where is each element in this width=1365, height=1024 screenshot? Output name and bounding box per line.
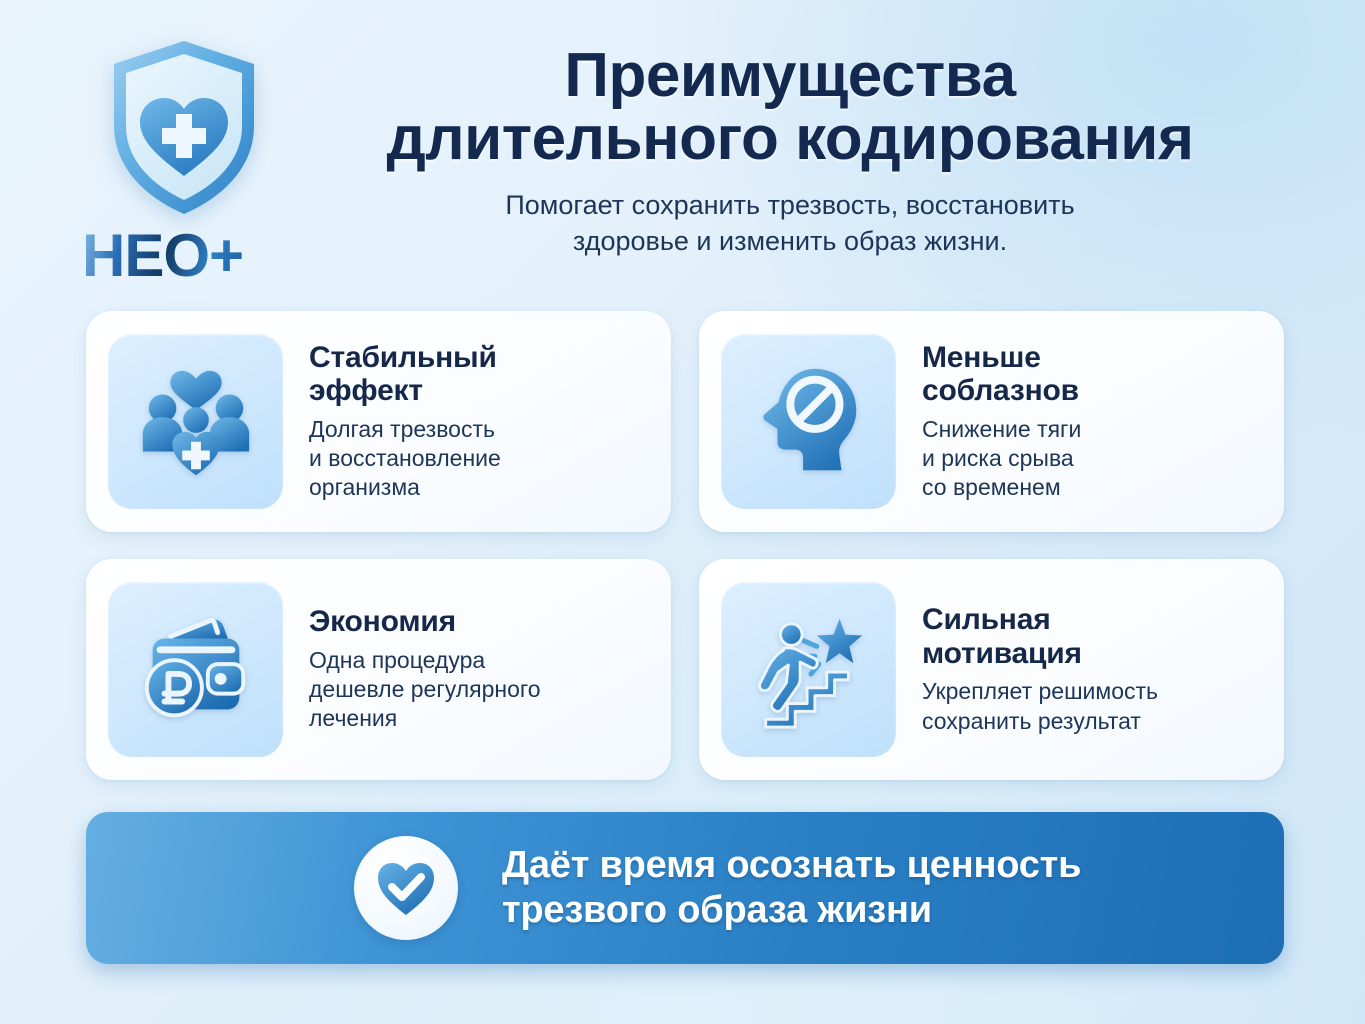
benefit-card-savings[interactable]: Экономия Одна процедура дешевле регулярн… (86, 559, 671, 780)
shield-heart-plus-icon (106, 38, 262, 218)
benefit-card-title-line-1: Экономия (309, 605, 456, 638)
benefit-card-stable-effect[interactable]: Стабильный эффект Долгая трезвость и вос… (86, 311, 671, 532)
benefit-card-title: Меньше соблазнов (922, 341, 1081, 408)
brand-wordmark: НЕО+ (82, 224, 302, 288)
bottom-banner: Даёт время осознать ценность трезвого об… (86, 812, 1284, 964)
page-title-line-1: Преимущества (564, 41, 1015, 110)
benefit-card-desc-line-1: Укрепляет решимость (922, 678, 1158, 704)
page-subtitle: Помогает сохранить трезвость, восстанови… (300, 188, 1280, 258)
benefit-card-title-line-2: соблазнов (922, 374, 1079, 407)
wallet-ruble-icon (108, 582, 283, 757)
page-title-line-2: длительного кодирования (300, 107, 1280, 170)
heart-check-icon (354, 836, 458, 940)
benefit-card-desc-line-3: организма (309, 474, 420, 500)
benefit-card-desc-line-3: со временем (922, 474, 1061, 500)
benefit-card-title: Экономия (309, 605, 541, 639)
family-heart-plus-icon (108, 334, 283, 509)
benefit-card-title: Стабильный эффект (309, 341, 501, 408)
benefit-card-description: Одна процедура дешевле регулярного лечен… (309, 646, 541, 734)
benefit-cards-grid: Стабильный эффект Долгая трезвость и вос… (86, 311, 1284, 780)
benefit-card-text: Сильная мотивация Укрепляет решимость со… (896, 603, 1162, 736)
benefit-card-desc-line-1: Снижение тяги (922, 416, 1081, 442)
benefit-card-desc-line-2: сохранить результат (922, 708, 1141, 734)
benefit-card-text: Меньше соблазнов Снижение тяги и риска с… (896, 341, 1085, 503)
benefit-card-title-line-2: эффект (309, 374, 423, 407)
brand-logo: НЕО+ (82, 38, 302, 288)
benefit-card-description: Снижение тяги и риска срыва со временем (922, 415, 1081, 503)
title-block: Преимущества длительного кодирования Пом… (300, 44, 1280, 259)
infographic-poster: НЕО+ Преимущества длительного кодировани… (0, 0, 1365, 1024)
stairs-star-runner-icon (721, 582, 896, 757)
benefit-card-desc-line-2: дешевле регулярного (309, 676, 541, 702)
banner-message-line-1: Даёт время осознать ценность (502, 843, 1081, 888)
benefit-card-title-line-1: Меньше (922, 341, 1041, 374)
benefit-card-desc-line-2: и риска срыва (922, 445, 1074, 471)
benefit-card-desc-line-3: лечения (309, 705, 397, 731)
benefit-card-title: Сильная мотивация (922, 603, 1158, 670)
benefit-card-text: Экономия Одна процедура дешевле регулярн… (283, 605, 545, 733)
benefit-card-description: Укрепляет решимость сохранить результат (922, 677, 1158, 735)
benefit-card-title-line-1: Стабильный (309, 341, 497, 374)
benefit-card-less-temptation[interactable]: Меньше соблазнов Снижение тяги и риска с… (699, 311, 1284, 532)
benefit-card-desc-line-1: Одна процедура (309, 647, 485, 673)
benefit-card-title-line-2: мотивация (922, 637, 1082, 670)
page-subtitle-line-2: здоровье и изменить образ жизни. (573, 226, 1007, 256)
benefit-card-text: Стабильный эффект Долгая трезвость и вос… (283, 341, 505, 503)
benefit-card-title-line-1: Сильная (922, 603, 1051, 636)
page-subtitle-line-1: Помогает сохранить трезвость, восстанови… (505, 190, 1074, 220)
benefit-card-desc-line-1: Долгая трезвость (309, 416, 495, 442)
benefit-card-description: Долгая трезвость и восстановление органи… (309, 415, 501, 503)
head-no-entry-icon (721, 334, 896, 509)
banner-message-line-2: трезвого образа жизни (502, 888, 1081, 933)
benefit-card-desc-line-2: и восстановление (309, 445, 501, 471)
benefit-card-motivation[interactable]: Сильная мотивация Укрепляет решимость со… (699, 559, 1284, 780)
header: НЕО+ Преимущества длительного кодировани… (0, 0, 1365, 300)
page-title: Преимущества длительного кодирования (300, 44, 1280, 170)
